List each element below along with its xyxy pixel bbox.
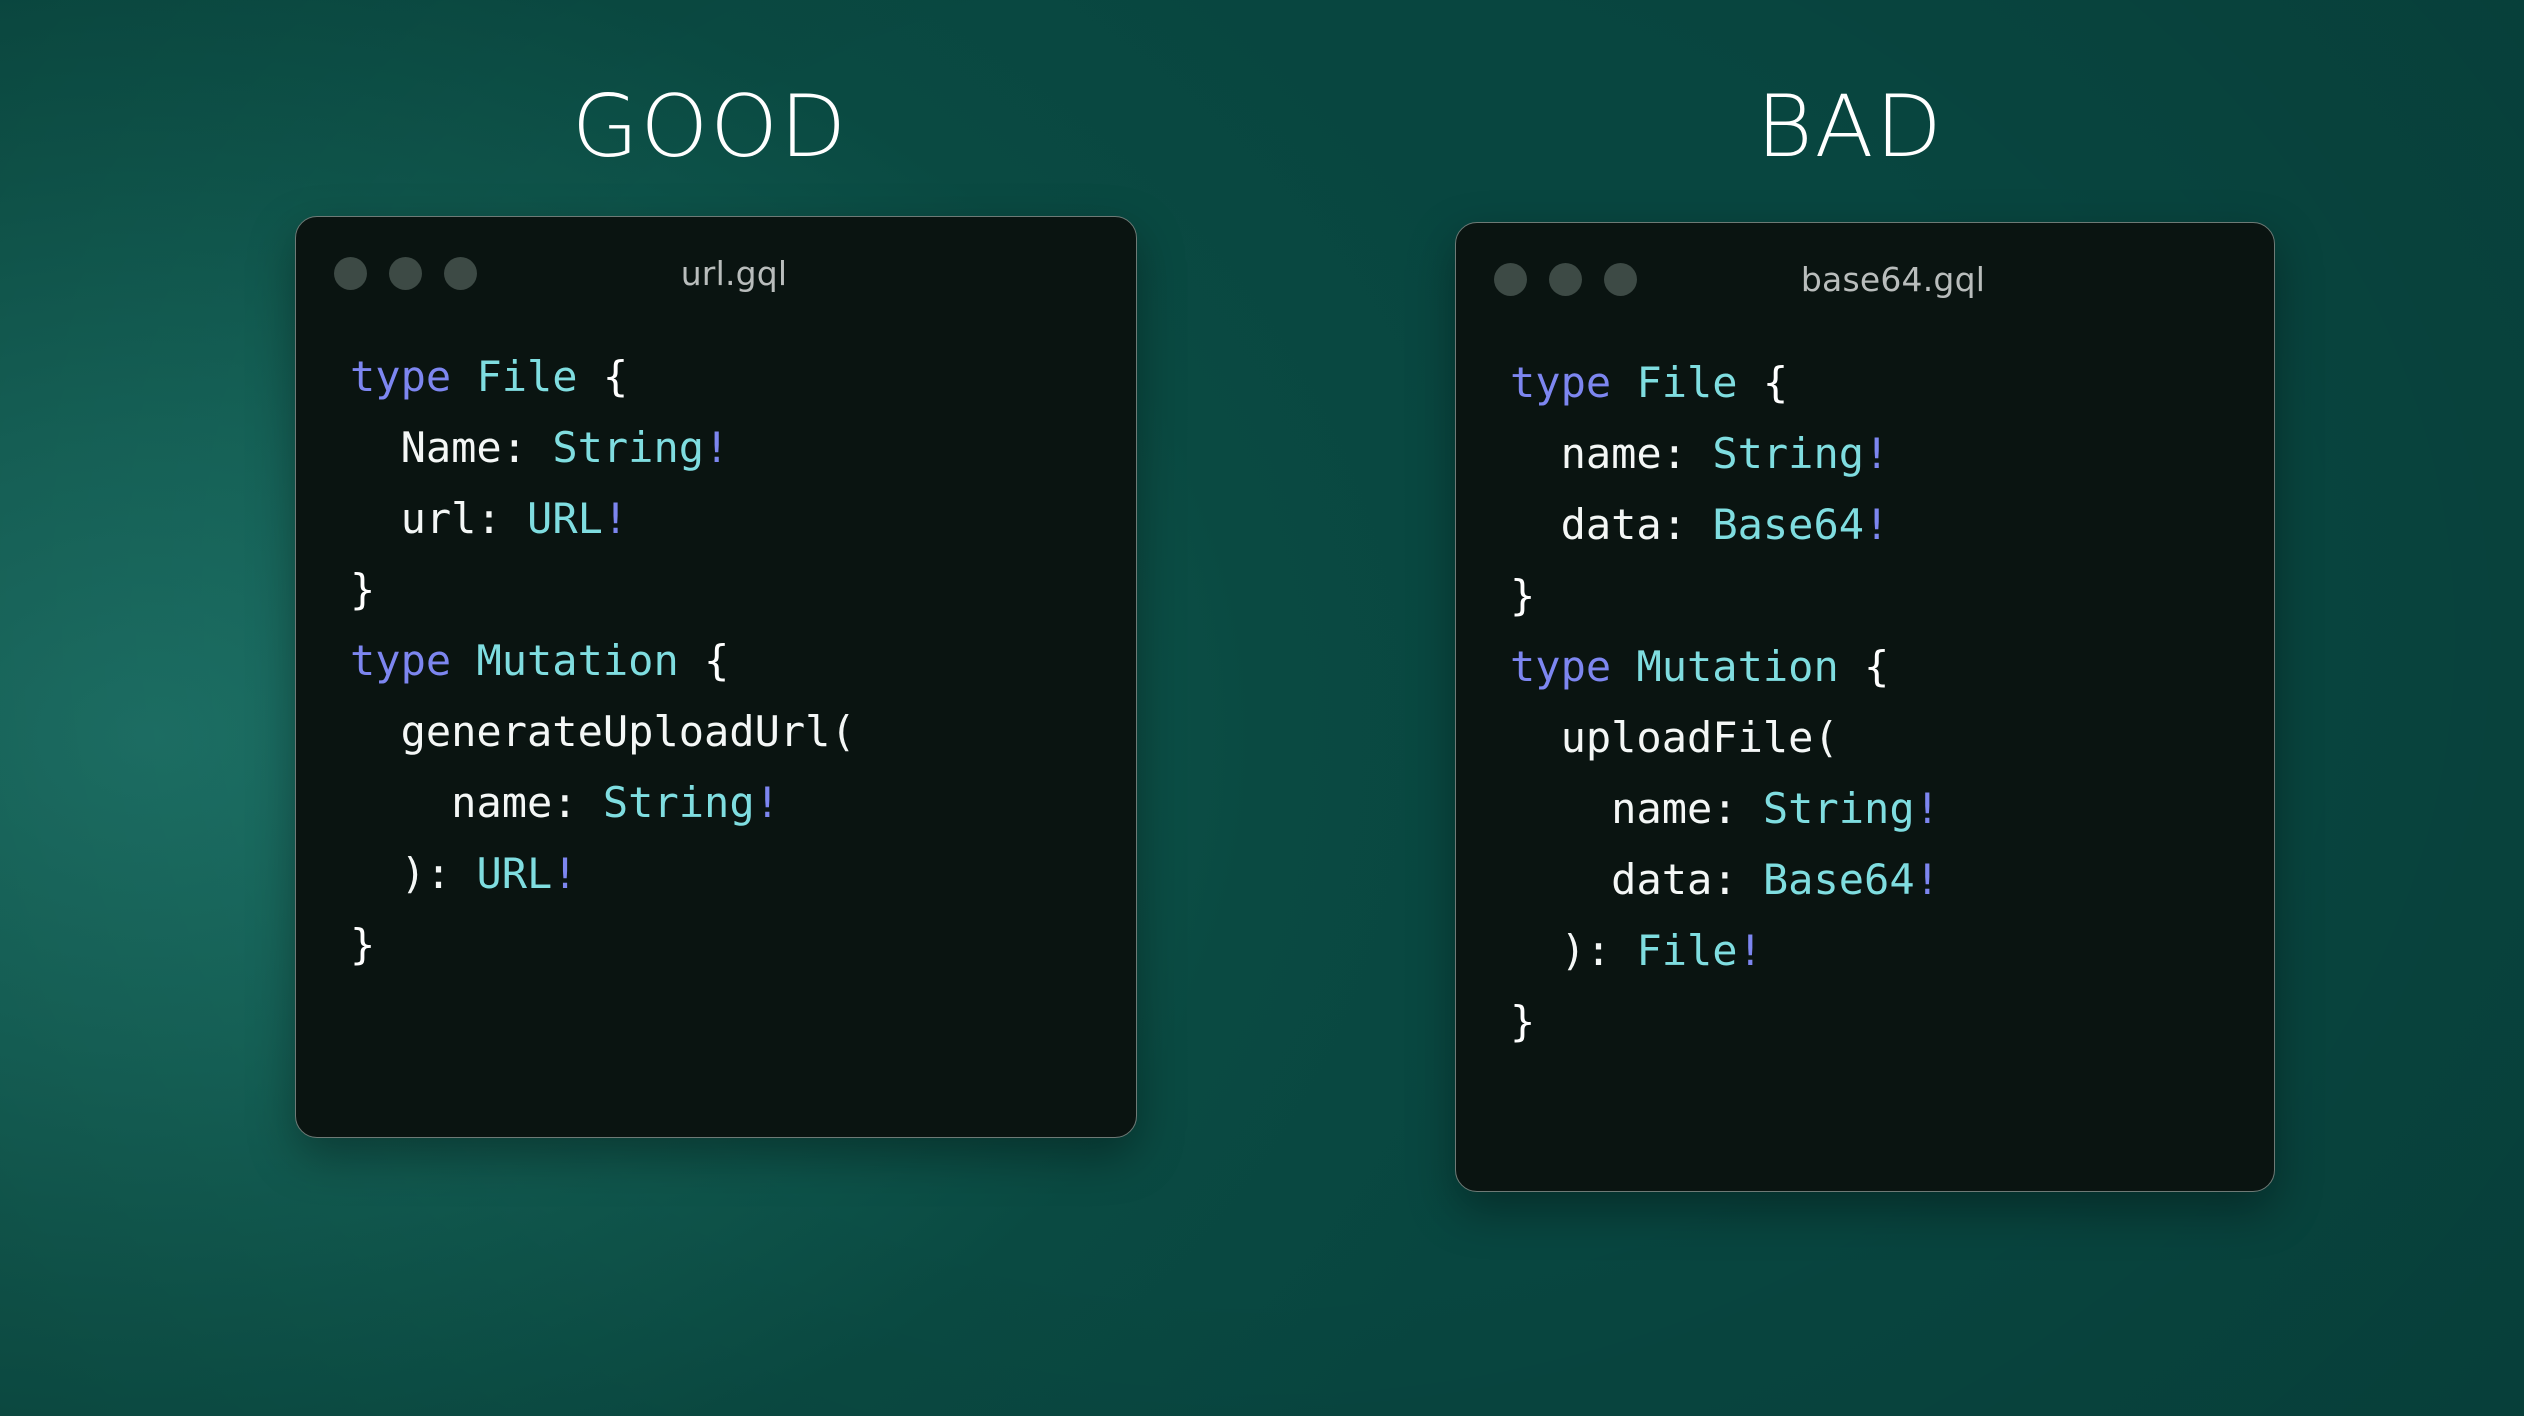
code-token: File [1636,926,1737,975]
code-block-bad: type File { name: String! data: Base64!}… [1456,335,2274,1057]
code-token: { [704,636,729,685]
code-token: type [350,636,451,685]
code-line: } [1510,560,2274,631]
code-line: uploadFile( [1510,702,2274,773]
window-dot-close-icon[interactable] [1494,263,1527,296]
code-line: data: Base64! [1510,844,2274,915]
code-token: uploadFile( [1561,713,1839,762]
code-token: name: [1611,784,1737,833]
code-line: type File { [350,341,1136,412]
code-token [1510,429,1561,478]
code-token: ! [1915,855,1940,904]
code-line: name: String! [1510,773,2274,844]
code-token [350,423,401,472]
code-window-bad: base64.gql type File { name: String! dat… [1455,222,2275,1192]
window-dot-maximize-icon[interactable] [444,257,477,290]
code-token: name: [451,778,577,827]
code-token: Mutation [1636,642,1838,691]
code-token: URL [476,849,552,898]
code-token: ): [401,849,452,898]
code-token: { [1763,358,1788,407]
window-dot-minimize-icon[interactable] [1549,263,1582,296]
code-line: type Mutation { [1510,631,2274,702]
code-token: type [350,352,451,401]
code-line: name: String! [350,767,1136,838]
window-dot-close-icon[interactable] [334,257,367,290]
code-token [1839,642,1864,691]
code-token: } [350,920,375,969]
code-token: ! [1738,926,1763,975]
code-token [350,849,401,898]
code-token: url: [401,494,502,543]
code-token [527,423,552,472]
code-line: ): File! [1510,915,2274,986]
code-token [1687,429,1712,478]
code-block-good: type File { Name: String! url: URL!}type… [296,329,1136,980]
window-dot-maximize-icon[interactable] [1604,263,1637,296]
code-token [1510,500,1561,549]
code-line: type File { [1510,347,2274,418]
code-token [451,849,476,898]
code-token: Base64 [1712,500,1864,549]
code-line: name: String! [1510,418,2274,489]
code-token [1611,926,1636,975]
code-token: type [1510,358,1611,407]
code-token: data: [1561,500,1687,549]
code-token: ! [603,494,628,543]
code-token [1738,784,1763,833]
code-token: ! [552,849,577,898]
code-token [1510,713,1561,762]
window-titlebar: base64.gql [1456,223,2274,335]
code-token: Mutation [476,636,678,685]
code-token [350,707,401,756]
code-token: URL [527,494,603,543]
code-token: ! [704,423,729,472]
code-line: type Mutation { [350,625,1136,696]
code-token [502,494,527,543]
code-token [1611,642,1636,691]
code-token: { [603,352,628,401]
code-token: type [1510,642,1611,691]
code-token: { [1864,642,1889,691]
code-token: } [350,565,375,614]
code-line: url: URL! [350,483,1136,554]
window-dot-minimize-icon[interactable] [389,257,422,290]
code-token [1738,358,1763,407]
code-token [1687,500,1712,549]
column-heading-bad: BAD [1550,84,2150,170]
code-token: String [603,778,755,827]
code-token: ! [755,778,780,827]
code-line: Name: String! [350,412,1136,483]
code-token: name: [1561,429,1687,478]
code-token [1738,855,1763,904]
code-token: ! [1915,784,1940,833]
code-line: data: Base64! [1510,489,2274,560]
code-token [1611,358,1636,407]
code-token [451,352,476,401]
code-token: generateUploadUrl( [401,707,856,756]
code-line: ): URL! [350,838,1136,909]
code-token [578,352,603,401]
code-line: } [1510,986,2274,1057]
code-token [679,636,704,685]
code-token [1510,926,1561,975]
code-token: } [1510,571,1535,620]
code-line: generateUploadUrl( [350,696,1136,767]
column-heading-good: GOOD [410,84,1010,170]
code-line: } [350,909,1136,980]
code-token: File [476,352,577,401]
code-token [451,636,476,685]
window-controls [334,257,477,290]
code-token: String [1763,784,1915,833]
code-token: Base64 [1763,855,1915,904]
code-token [578,778,603,827]
code-token: String [1712,429,1864,478]
code-line: } [350,554,1136,625]
code-token: File [1636,358,1737,407]
code-token [350,778,451,827]
code-token: data: [1611,855,1737,904]
code-token: String [552,423,704,472]
code-window-good: url.gql type File { Name: String! url: U… [295,216,1137,1138]
code-token: } [1510,997,1535,1046]
window-titlebar: url.gql [296,217,1136,329]
code-token [1510,855,1611,904]
window-controls [1494,263,1637,296]
code-token: ! [1864,429,1889,478]
code-token [350,494,401,543]
code-token: ! [1864,500,1889,549]
code-token [1510,784,1611,833]
code-token: Name: [401,423,527,472]
code-token: ): [1561,926,1612,975]
